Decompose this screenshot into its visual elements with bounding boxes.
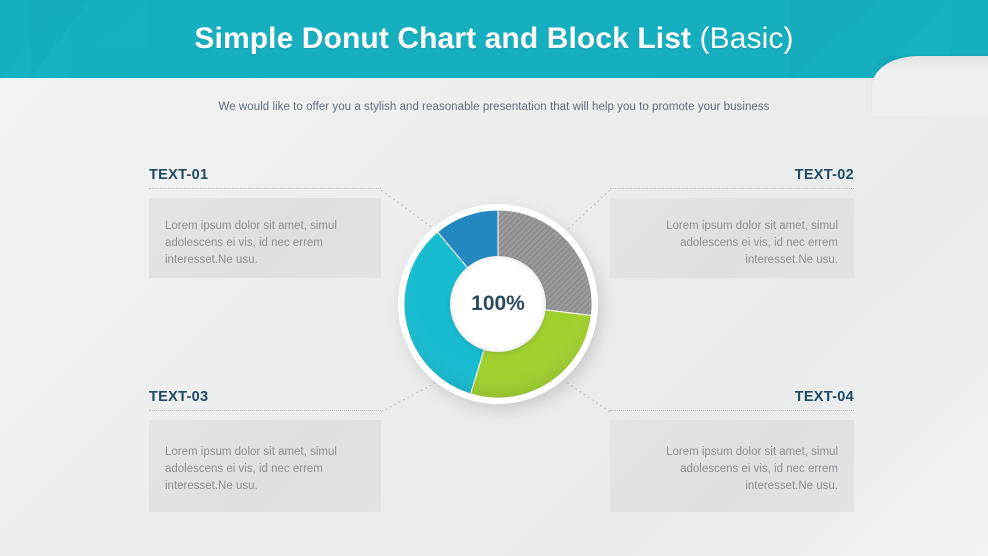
text-block-01[interactable]: TEXT-01 Lorem ipsum dolor sit amet, simu… <box>149 167 381 278</box>
donut-chart[interactable]: 100% <box>398 204 606 412</box>
block-label-04: TEXT-04 <box>610 389 854 410</box>
block-body-03: Lorem ipsum dolor sit amet, simul adoles… <box>149 420 381 512</box>
text-block-03[interactable]: TEXT-03 Lorem ipsum dolor sit amet, simu… <box>149 389 381 512</box>
block-rule-03 <box>149 410 381 411</box>
text-block-02[interactable]: TEXT-02 Lorem ipsum dolor sit amet, simu… <box>610 167 854 278</box>
donut-center-label: 100% <box>450 256 546 352</box>
block-rule-04 <box>610 410 854 411</box>
block-label-01: TEXT-01 <box>149 167 381 188</box>
slide-canvas: Simple Donut Chart and Block List (Basic… <box>0 0 988 556</box>
block-label-02: TEXT-02 <box>610 167 854 188</box>
block-label-03: TEXT-03 <box>149 389 381 410</box>
block-rule-01 <box>149 188 381 189</box>
text-block-04[interactable]: TEXT-04 Lorem ipsum dolor sit amet, simu… <box>610 389 854 512</box>
block-body-02: Lorem ipsum dolor sit amet, simul adoles… <box>610 198 854 278</box>
block-body-04: Lorem ipsum dolor sit amet, simul adoles… <box>610 420 854 512</box>
block-body-01: Lorem ipsum dolor sit amet, simul adoles… <box>149 198 381 278</box>
block-rule-02 <box>610 188 854 189</box>
